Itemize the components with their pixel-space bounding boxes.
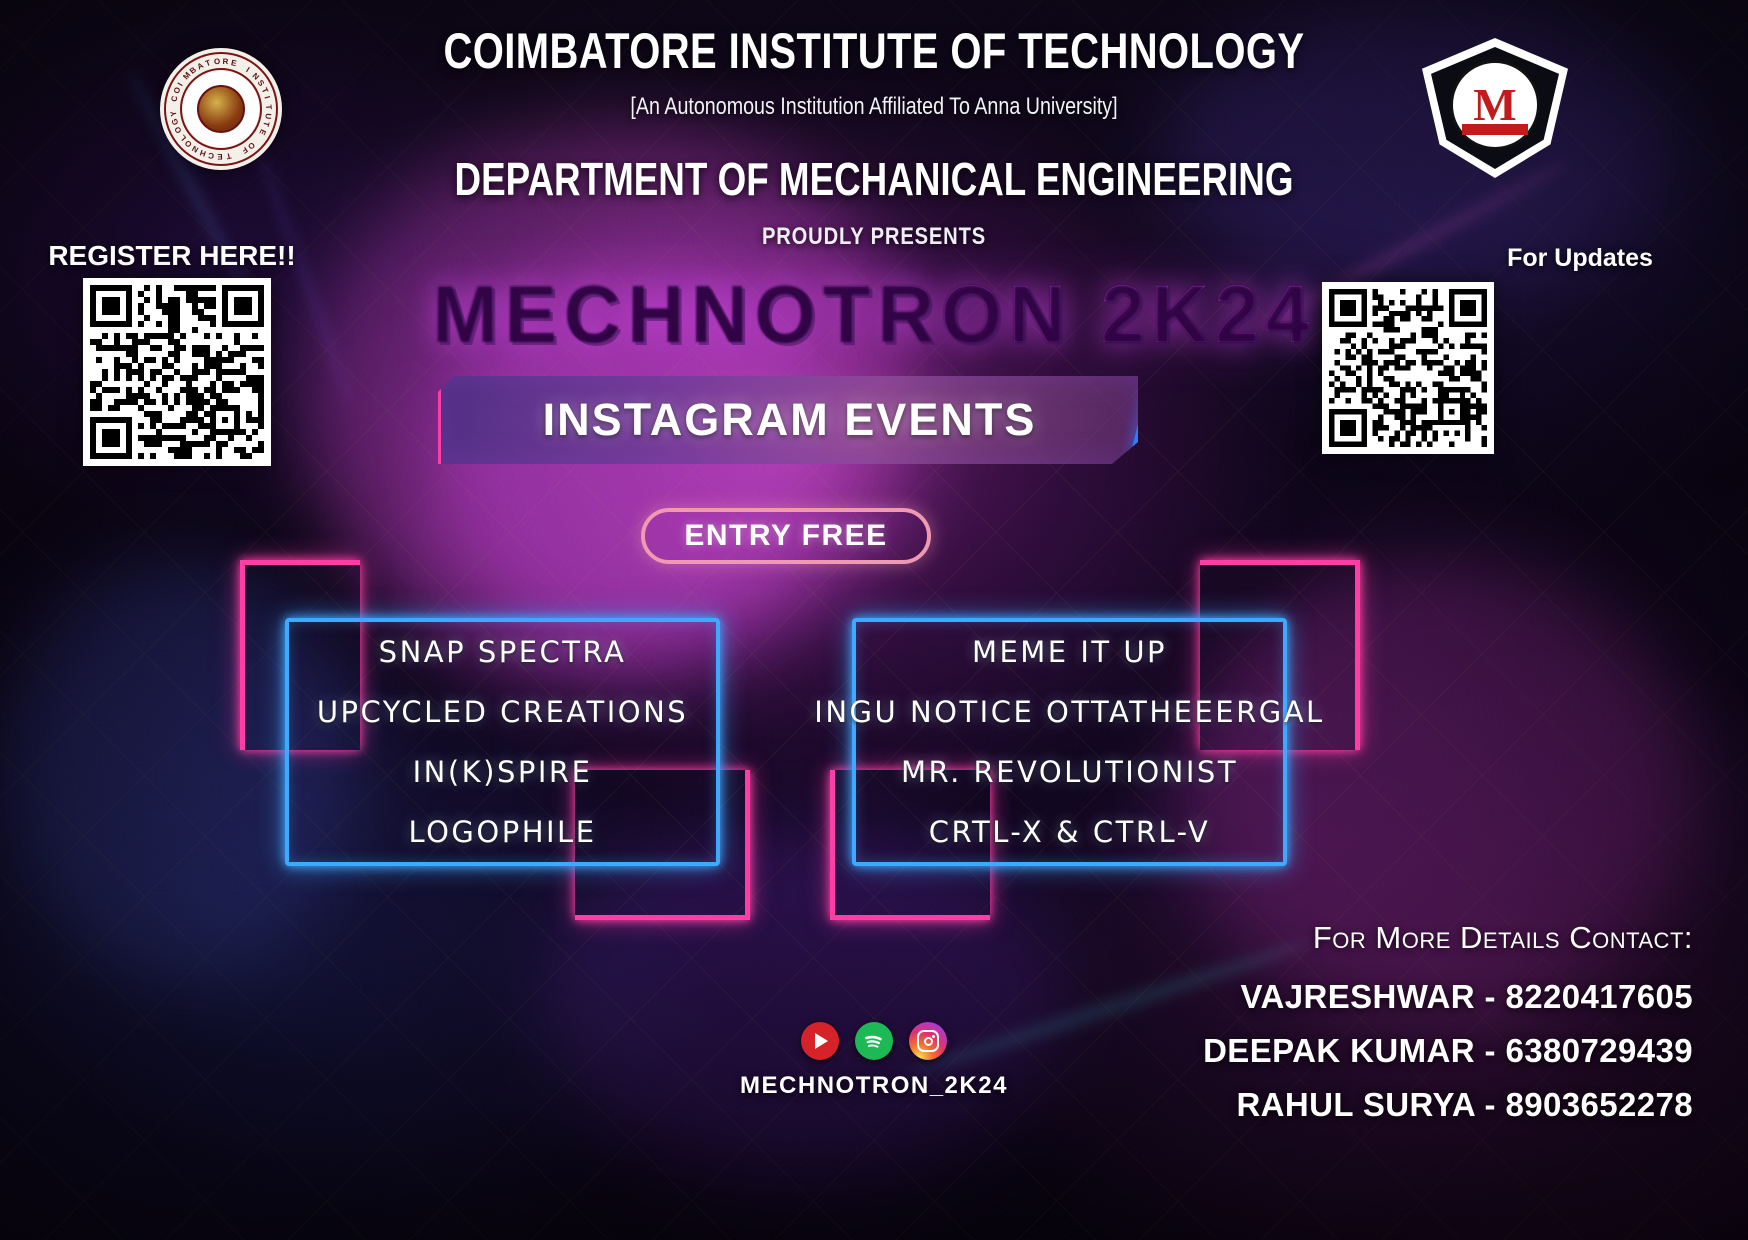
instagram-frame bbox=[917, 1030, 939, 1052]
logo-red-bar bbox=[1462, 124, 1528, 135]
social-icons-row bbox=[0, 1022, 1748, 1060]
institution-affiliation: [An Autonomous Institution Affiliated To… bbox=[157, 93, 1590, 121]
list-item: INGU NOTICE OTTATHEEERGAL bbox=[814, 695, 1324, 729]
updates-qr-label: For Updates bbox=[1430, 244, 1730, 273]
events-box-left: SNAP SPECTRA UPCYCLED CREATIONS IN(K)SPI… bbox=[240, 560, 760, 920]
youtube-icon[interactable] bbox=[801, 1022, 839, 1060]
events-box-right: MEME IT UP INGU NOTICE OTTATHEEERGAL MR.… bbox=[820, 560, 1360, 920]
list-item: IN(K)SPIRE bbox=[413, 755, 593, 789]
register-qr-canvas bbox=[90, 285, 264, 459]
instagram-lens bbox=[924, 1037, 933, 1046]
updates-qr-canvas bbox=[1329, 289, 1487, 447]
instagram-icon[interactable] bbox=[909, 1022, 947, 1060]
events-list-right: MEME IT UP INGU NOTICE OTTATHEEERGAL MR.… bbox=[852, 618, 1287, 866]
event-poster: COIMBATORE INSTITUTE OF TECHNOLOGY MECHN… bbox=[0, 0, 1748, 1240]
proudly-presents-label: PROUDLY PRESENTS bbox=[140, 223, 1608, 251]
list-item: MEME IT UP bbox=[972, 635, 1167, 669]
contact-row: VAJRESHWAR - 8220417605 bbox=[1073, 978, 1693, 1016]
list-item: MR. REVOLUTIONIST bbox=[901, 755, 1238, 789]
register-qr-code[interactable] bbox=[83, 278, 271, 466]
institution-title: COIMBATORE INSTITUTE OF TECHNOLOGY bbox=[175, 22, 1573, 80]
instagram-events-banner: INSTAGRAM EVENTS bbox=[438, 376, 1138, 464]
register-qr-label: REGISTER HERE!! bbox=[22, 240, 322, 272]
events-list-left: SNAP SPECTRA UPCYCLED CREATIONS IN(K)SPI… bbox=[285, 618, 720, 866]
updates-qr-code[interactable] bbox=[1322, 282, 1494, 454]
entry-free-label: ENTRY FREE bbox=[684, 519, 887, 553]
spotify-icon[interactable] bbox=[855, 1022, 893, 1060]
list-item: UPCYCLED CREATIONS bbox=[317, 695, 688, 729]
instagram-dot bbox=[932, 1035, 935, 1038]
list-item: LOGOPHILE bbox=[408, 815, 596, 849]
youtube-play-triangle bbox=[815, 1033, 828, 1049]
spotify-waves bbox=[861, 1028, 887, 1054]
entry-free-badge: ENTRY FREE bbox=[641, 508, 931, 564]
list-item: CRTL-X & CTRL-V bbox=[929, 815, 1210, 849]
instagram-events-label: INSTAGRAM EVENTS bbox=[543, 394, 1037, 446]
list-item: SNAP SPECTRA bbox=[379, 635, 627, 669]
social-handle: MECHNOTRON_2K24 bbox=[0, 1072, 1748, 1100]
department-title: DEPARTMENT OF MECHANICAL ENGINEERING bbox=[175, 152, 1573, 206]
contact-heading: For More Details Contact: bbox=[1073, 920, 1693, 956]
